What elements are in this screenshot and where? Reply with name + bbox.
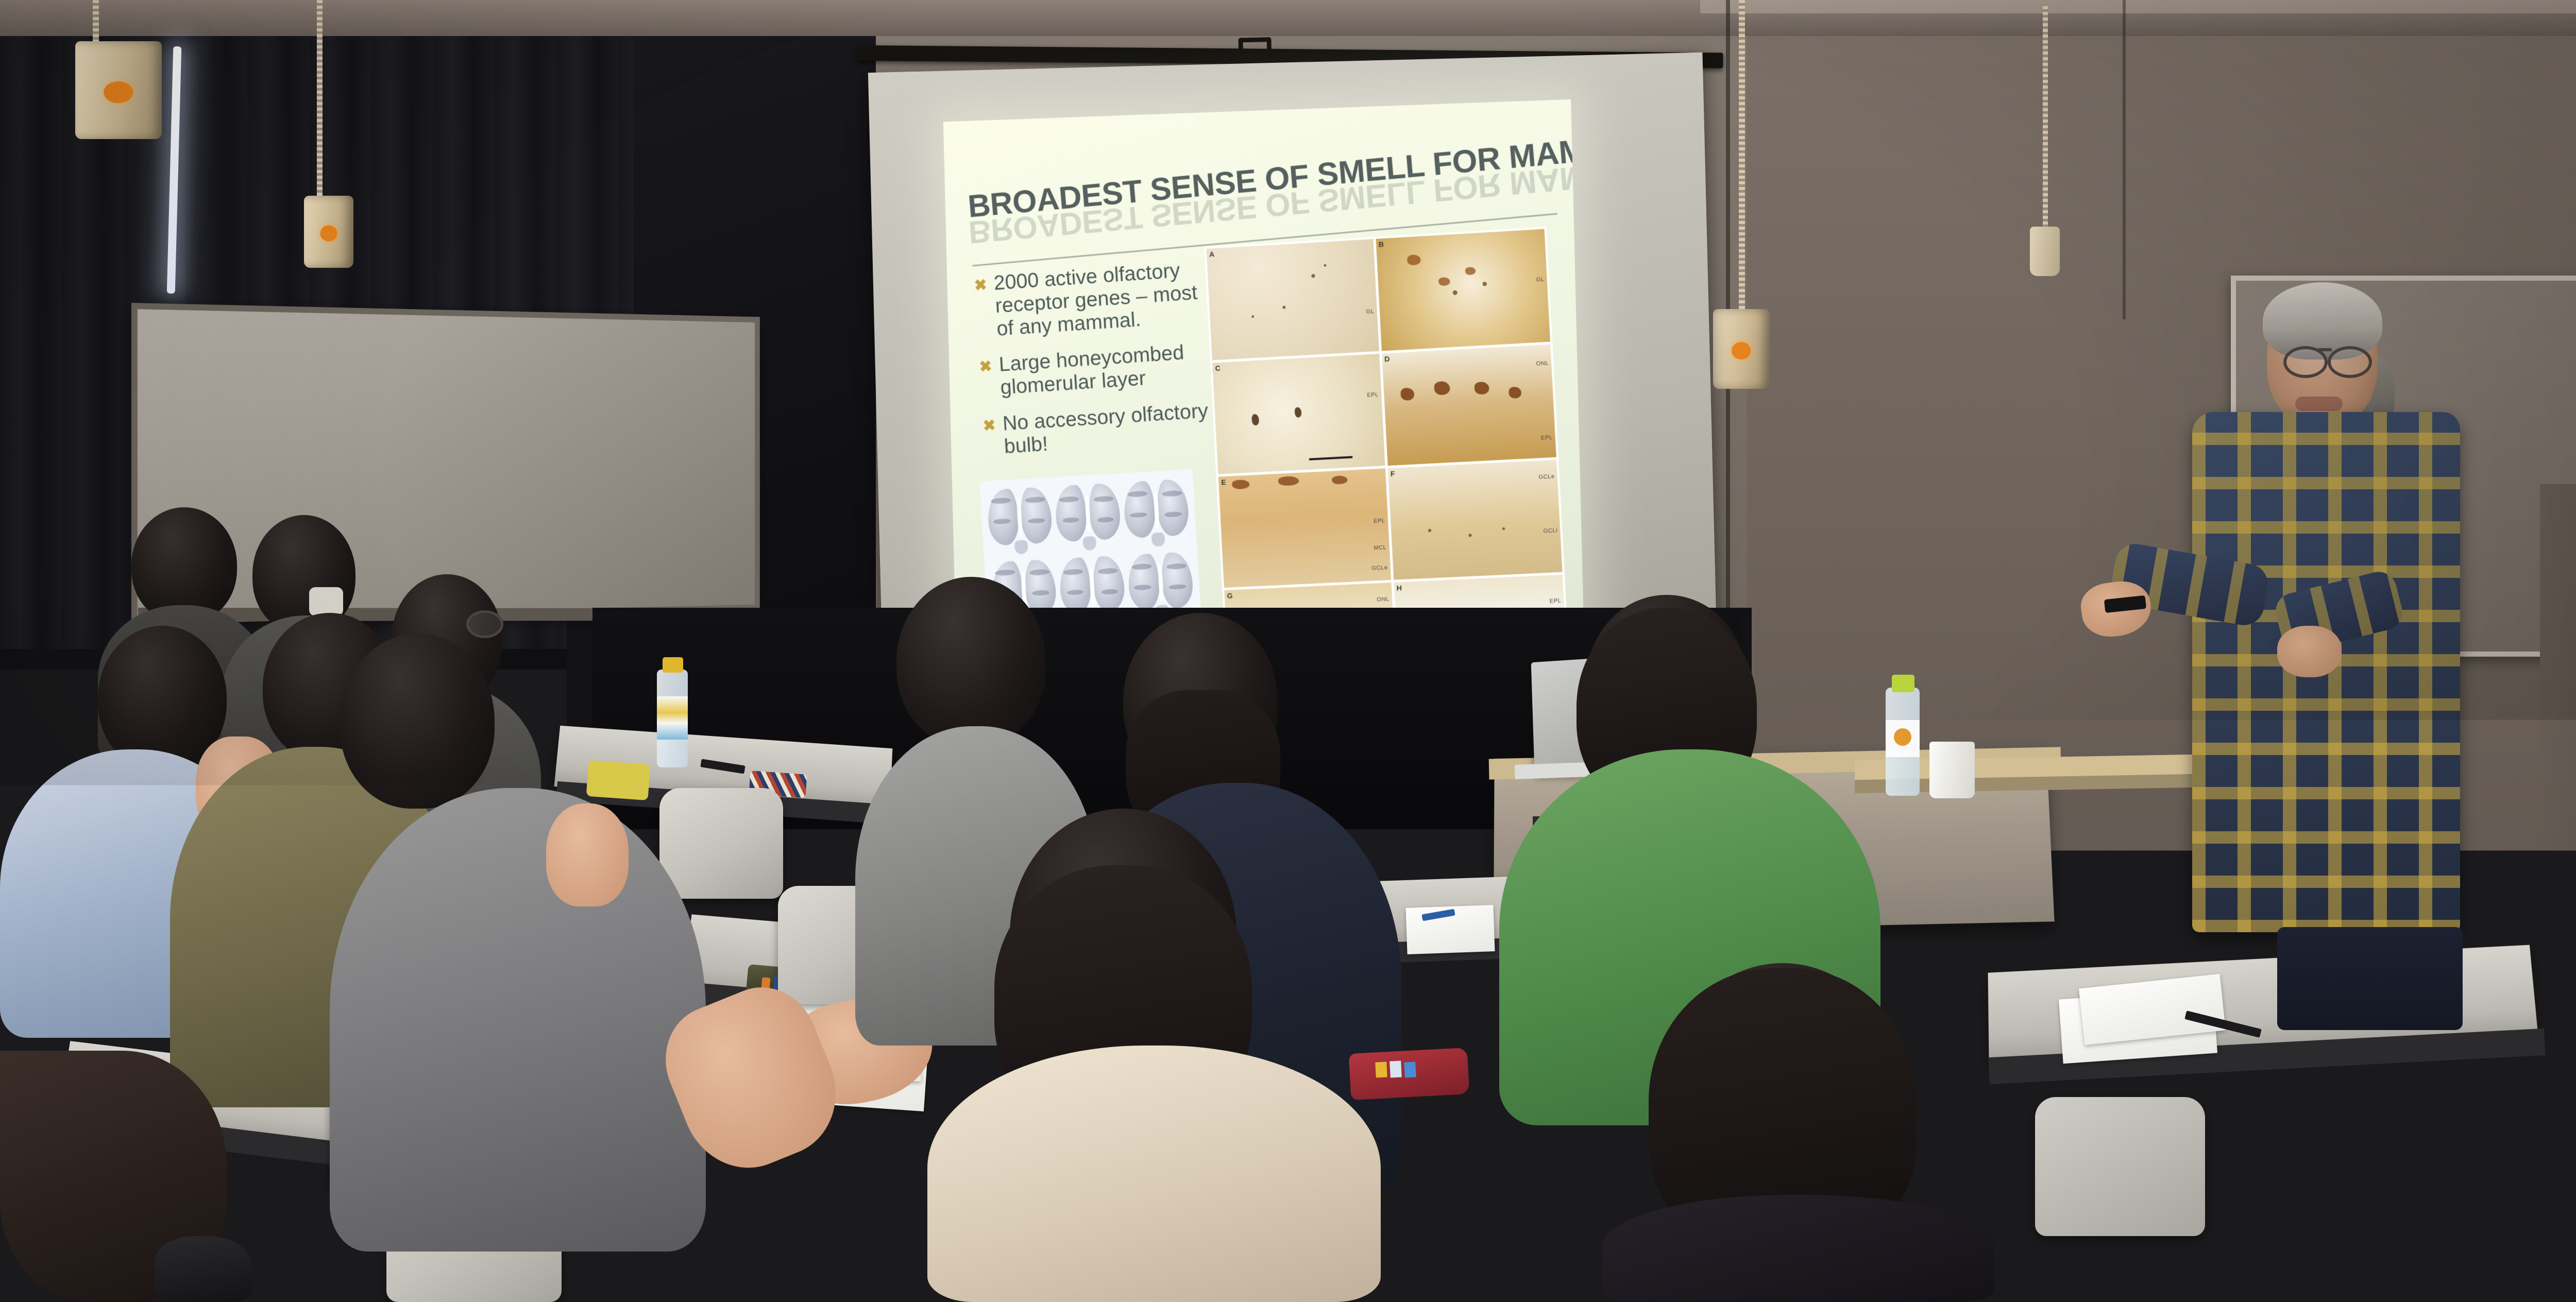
bullet-marker-icon: ✖	[982, 413, 996, 434]
pendant-switch[interactable]	[75, 41, 162, 139]
brain-section	[1053, 478, 1123, 552]
layer-label: ONL	[1536, 360, 1549, 367]
pendant-switch[interactable]	[1713, 309, 1770, 389]
histology-panel: D ONL EPL	[1382, 344, 1556, 465]
panel-tag: G	[1227, 592, 1233, 600]
brain-section	[1121, 474, 1192, 549]
indicator-dot-icon	[320, 225, 337, 241]
slide-bullet: ✖ Large honeycombed glomerular layer	[978, 339, 1220, 400]
layer-label: EPL	[1541, 435, 1553, 441]
chair[interactable]	[2195, 1128, 2421, 1302]
panel-tag: H	[1396, 584, 1402, 592]
layer-label: EPL	[1367, 392, 1379, 399]
classroom-photo: BROADEST SENSE OF SMELL FOR MAMMALS? BRO…	[0, 0, 2576, 1302]
paper-cup[interactable]	[1929, 742, 1975, 798]
pen[interactable]	[1404, 1061, 1416, 1077]
student-body	[1602, 1195, 1994, 1302]
panel-tag: D	[1384, 354, 1390, 363]
bottle-logo-icon	[1894, 728, 1911, 746]
pen[interactable]	[1389, 1060, 1402, 1077]
layer-label: ONL	[1377, 596, 1389, 603]
chair[interactable]	[2035, 1097, 2205, 1236]
pendant-switch[interactable]	[304, 196, 353, 268]
pendant-cord	[93, 0, 99, 46]
pull-cord[interactable]	[2043, 6, 2048, 233]
face-mask	[309, 587, 343, 616]
bottle-cap[interactable]	[663, 657, 683, 673]
bottle-label	[657, 696, 688, 740]
panel-tag: F	[1391, 469, 1395, 477]
pendant-cord	[317, 0, 323, 201]
presenter-right-hand	[2277, 626, 2342, 677]
classroom-door[interactable]	[2540, 484, 2576, 1302]
screen-hook-icon	[1238, 37, 1272, 63]
presenter-mouth	[2295, 397, 2343, 411]
glasses-icon	[2328, 346, 2372, 378]
histology-panel: F GCLe GCLi	[1387, 459, 1562, 580]
layer-label: GL	[1536, 277, 1545, 283]
layer-label: GCLe	[1371, 564, 1388, 571]
slide-bullet: ✖ 2000 active olfactory receptor genes –…	[973, 257, 1216, 342]
pen[interactable]	[1375, 1061, 1387, 1077]
layer-label: GCLe	[1538, 473, 1555, 481]
slide-bullet-text: No accessory olfactory bulb!	[1002, 399, 1224, 458]
panel-tag: E	[1221, 478, 1226, 486]
histology-panel: C EPL	[1212, 354, 1385, 474]
pendant-cord	[1739, 0, 1745, 319]
glasses-bridge-icon	[2318, 348, 2332, 351]
ceiling-trim	[1700, 0, 2576, 13]
slide-bullet: ✖ No accessory olfactory bulb!	[982, 399, 1224, 459]
student-body	[330, 788, 706, 1252]
indicator-dot-icon	[1732, 342, 1751, 359]
wall-seam	[2123, 0, 2126, 319]
panel-tag: C	[1215, 364, 1221, 372]
layer-label: GL	[1366, 309, 1374, 315]
layer-label: EPL	[1374, 518, 1385, 524]
slide-bullet-text: Large honeycombed glomerular layer	[998, 339, 1220, 399]
student-shoulder	[155, 1236, 252, 1302]
layer-label: MCL	[1374, 544, 1387, 551]
panel-tag: B	[1378, 240, 1384, 249]
presenter-legs	[2277, 927, 2463, 1030]
chair[interactable]	[659, 788, 783, 899]
student-hand	[546, 803, 629, 906]
student-head	[340, 633, 495, 809]
layer-label: GCLi	[1543, 527, 1557, 534]
histology-panel: B GL	[1376, 229, 1550, 351]
slide-bullet-text: 2000 active olfactory receptor genes – m…	[993, 257, 1216, 340]
student-head	[896, 577, 1046, 747]
layer-label: EPL	[1549, 597, 1561, 604]
bullet-marker-icon: ✖	[973, 272, 987, 294]
slide-bullet-list: ✖ 2000 active olfactory receptor genes –…	[973, 257, 1224, 473]
bottle-cap[interactable]	[1892, 675, 1914, 692]
bullet-marker-icon: ✖	[978, 354, 992, 375]
brain-section	[985, 483, 1055, 556]
histology-panel: A GL	[1207, 239, 1379, 360]
pull-cord-tag[interactable]	[2030, 227, 2060, 276]
glasses-icon	[466, 610, 503, 638]
student-body	[927, 1046, 1381, 1302]
panel-tag: A	[1209, 250, 1215, 259]
histology-panel: E EPL MCL GCLe	[1218, 468, 1391, 588]
desk-item[interactable]	[2071, 1250, 2154, 1274]
indicator-dot-icon	[104, 81, 133, 103]
yellow-pouch[interactable]	[586, 760, 651, 800]
